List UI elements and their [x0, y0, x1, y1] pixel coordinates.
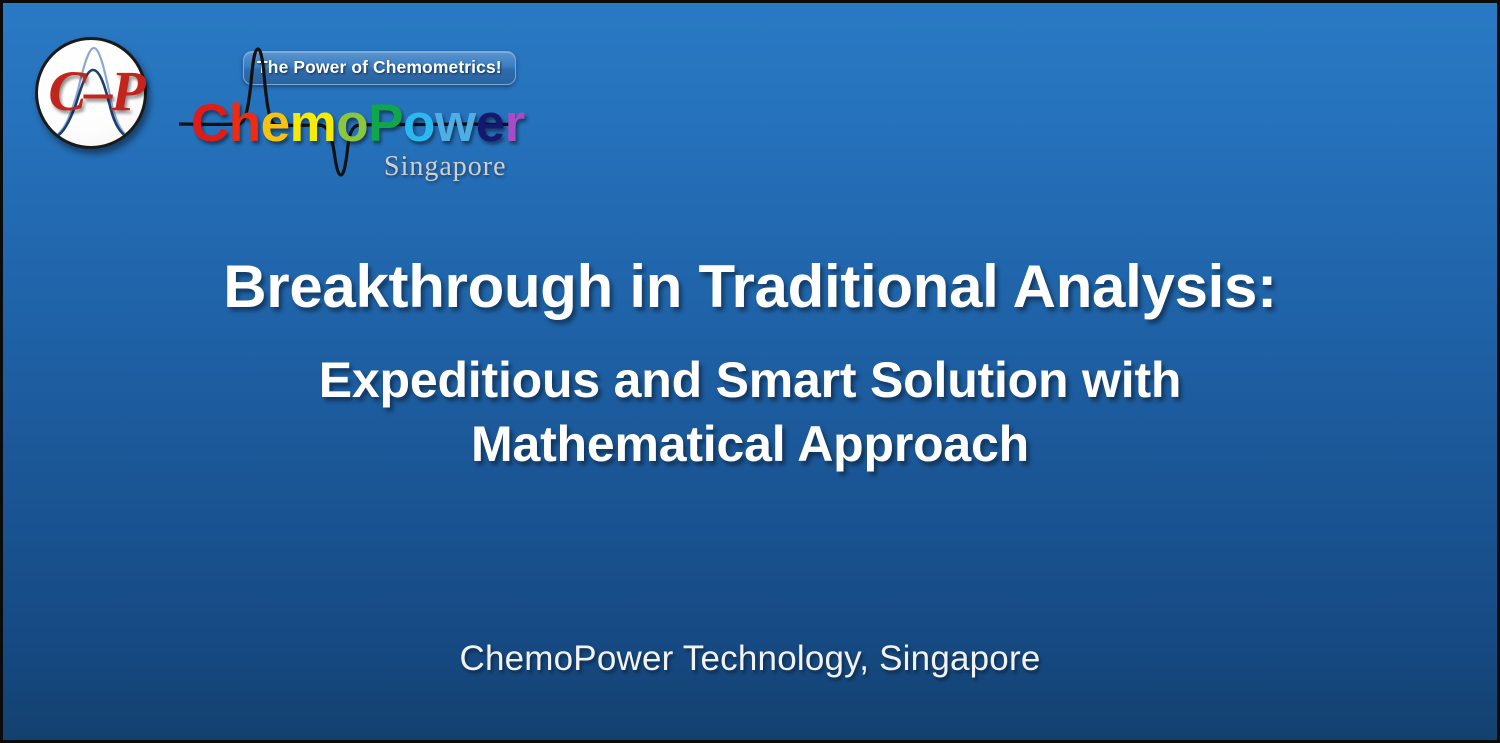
page-title: Breakthrough in Traditional Analysis:: [3, 255, 1497, 320]
wordmark-letter-3: e: [261, 94, 290, 153]
wordmark-letter-5: o: [336, 94, 368, 153]
wordmark-letter-8: w: [435, 94, 476, 153]
wordmark-letter-1: C: [191, 94, 229, 153]
wordmark-letter-10: r: [505, 94, 525, 153]
emblem-disc: [35, 37, 147, 149]
logo-tagline: The Power of Chemometrics!: [243, 51, 516, 85]
wordmark-letter-9: e: [476, 94, 505, 153]
chemopower-wordmark: ChemoPower: [191, 97, 525, 150]
wordmark-letter-6: P: [368, 94, 403, 153]
page-subtitle-line-1: Expeditious and Smart Solution with: [3, 350, 1497, 410]
wordmark-letter-2: h: [229, 94, 261, 153]
logo-location: Singapore: [384, 151, 507, 183]
presentation-slide: C–P The Power of Chemometrics! ChemoPowe…: [0, 0, 1500, 743]
cp-emblem-icon: C–P: [35, 37, 157, 159]
spectral-peak-icon: [38, 40, 144, 146]
company-logo[interactable]: C–P The Power of Chemometrics! ChemoPowe…: [29, 25, 499, 175]
page-subtitle-line-2: Mathematical Approach: [3, 414, 1497, 474]
footer-attribution: ChemoPower Technology, Singapore: [3, 639, 1497, 679]
wordmark-letter-4: m: [290, 94, 337, 153]
title-block: Breakthrough in Traditional Analysis: Ex…: [3, 255, 1497, 474]
wordmark-letter-7: o: [403, 94, 435, 153]
